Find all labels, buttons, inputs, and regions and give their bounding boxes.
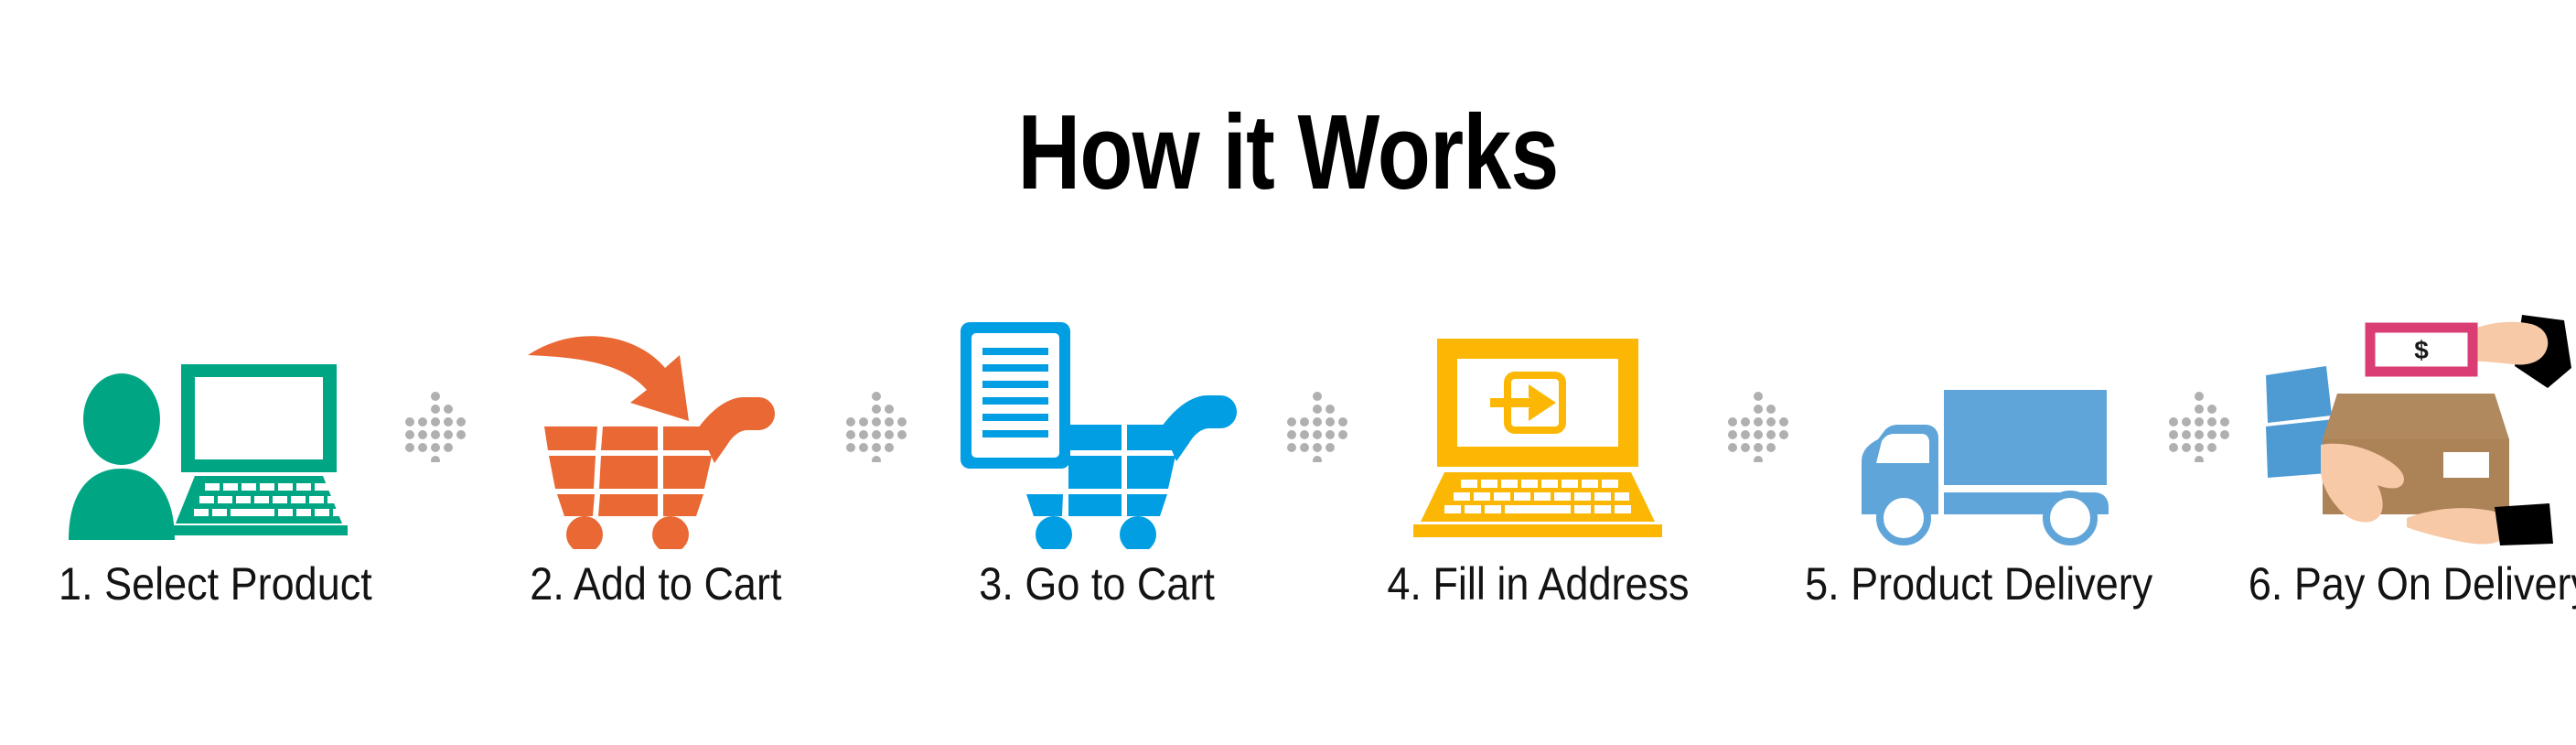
step-1-select-product[interactable]: 1. Select Product	[37, 302, 393, 686]
step-label: 4. Fill in Address	[1387, 558, 1689, 610]
step-2-add-to-cart[interactable]: 2. Add to Cart	[478, 302, 834, 686]
infographic-page: How it Works	[0, 0, 2576, 745]
dotted-arrow-right-icon	[1275, 302, 1359, 549]
banknote-dollar-symbol: $	[2414, 336, 2429, 364]
cart-with-arrow-icon	[491, 302, 821, 549]
step-6-pay-on-delivery[interactable]: $	[2241, 302, 2576, 686]
step-3-go-to-cart[interactable]: 3. Go to Cart	[918, 302, 1275, 686]
dotted-arrow-right-icon	[2157, 302, 2241, 549]
steps-row: 1. Select Product	[37, 302, 2539, 686]
step-label: 2. Add to Cart	[530, 558, 781, 610]
page-title: How it Works	[231, 99, 2344, 205]
dotted-arrow-right-icon	[393, 302, 478, 549]
hands-exchange-box-and-cash-icon: $	[2255, 302, 2576, 549]
step-label: 6. Pay On Delivery	[2248, 558, 2576, 610]
step-5-product-delivery[interactable]: 5. Product Delivery	[1800, 302, 2157, 686]
dotted-arrow-right-icon	[1716, 302, 1800, 549]
step-label: 1. Select Product	[59, 558, 372, 610]
laptop-login-form-icon	[1373, 302, 1702, 549]
step-4-fill-in-address[interactable]: 4. Fill in Address	[1359, 302, 1716, 686]
step-label: 5. Product Delivery	[1805, 558, 2152, 610]
delivery-truck-icon	[1814, 302, 2143, 549]
document-and-cart-icon	[932, 302, 1261, 549]
person-at-laptop-icon	[50, 302, 380, 549]
dotted-arrow-right-icon	[834, 302, 918, 549]
step-label: 3. Go to Cart	[979, 558, 1215, 610]
